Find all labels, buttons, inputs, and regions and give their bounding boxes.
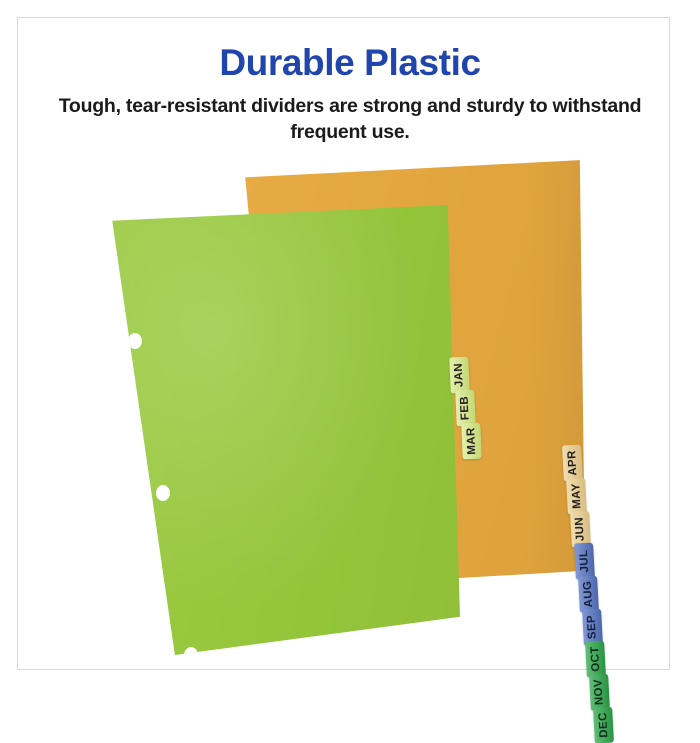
index-tab-label: NOV bbox=[593, 679, 606, 706]
index-tab-mar: MAR bbox=[461, 423, 482, 460]
punch-hole-green-bottom bbox=[184, 647, 198, 663]
index-tab-label: DEC bbox=[597, 712, 610, 738]
index-tab-jan: JAN bbox=[449, 357, 470, 394]
index-tab-aug: AUG bbox=[578, 576, 599, 613]
product-photo: JAN FEB MAR APR MAY JUN JUL AUG SEP OC bbox=[0, 150, 700, 670]
index-tab-feb: FEB bbox=[455, 390, 476, 427]
punch-hole-green-top bbox=[128, 333, 142, 349]
headline-block: Durable Plastic Tough, tear-resistant di… bbox=[0, 42, 700, 145]
index-tab-label: JUL bbox=[578, 549, 591, 573]
product-feature-image: Durable Plastic Tough, tear-resistant di… bbox=[0, 0, 700, 700]
index-tab-label: AUG bbox=[582, 580, 595, 607]
index-tab-label: OCT bbox=[589, 646, 602, 672]
index-tab-apr: APR bbox=[562, 445, 583, 482]
page-subtitle: Tough, tear-resistant dividers are stron… bbox=[50, 93, 650, 145]
index-tab-dec: DEC bbox=[593, 707, 614, 743]
index-tab-may: MAY bbox=[566, 478, 587, 515]
index-tab-label: MAR bbox=[465, 427, 478, 455]
index-tab-label: SEP bbox=[586, 615, 599, 640]
index-tab-nov: NOV bbox=[589, 674, 610, 711]
front-divider-green bbox=[108, 205, 460, 655]
index-tab-label: FEB bbox=[459, 396, 472, 421]
index-tab-oct: OCT bbox=[585, 641, 606, 678]
index-tab-label: JAN bbox=[453, 363, 466, 388]
index-tab-jul: JUL bbox=[574, 543, 595, 580]
page-title: Durable Plastic bbox=[0, 42, 700, 84]
punch-hole-green-middle bbox=[156, 485, 170, 501]
index-tab-label: MAY bbox=[570, 483, 583, 509]
green-sheen bbox=[108, 205, 460, 655]
index-tab-label: APR bbox=[566, 450, 579, 476]
index-tab-label: JUN bbox=[574, 517, 587, 542]
